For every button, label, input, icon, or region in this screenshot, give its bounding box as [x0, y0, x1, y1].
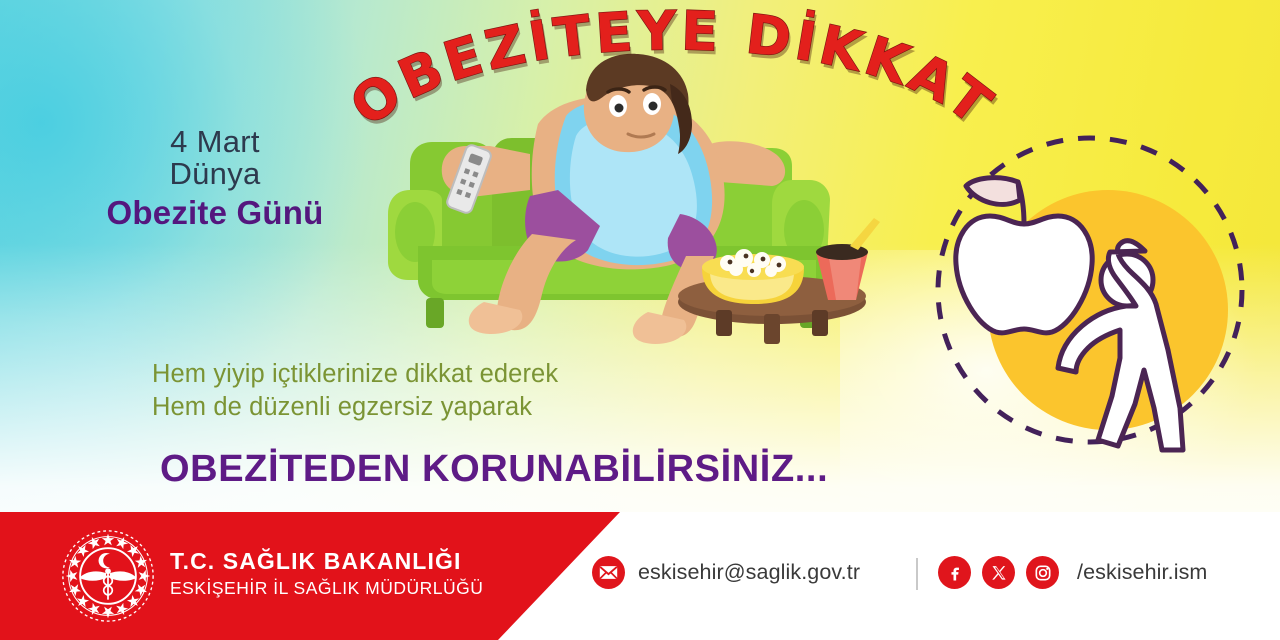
- message-line-1: Hem yiyip içtiklerinize dikkat ederek: [152, 358, 872, 391]
- apple-and-exercising-person-illustration: [930, 120, 1270, 470]
- poster: OBEZİTEYE DİKKAT OBEZİTEYE DİKKAT 4 Mart…: [0, 0, 1280, 640]
- message-line-2: Hem de düzenli egzersiz yaparak: [152, 391, 872, 424]
- tc-saglik-bakanligi-emblem-icon: [60, 528, 156, 624]
- ministry-titles: T.C. SAĞLIK BAKANLIĞI ESKİŞEHİR İL SAĞLI…: [170, 548, 483, 600]
- email-address: eskisehir@saglik.gov.tr: [638, 560, 860, 585]
- email-contact[interactable]: eskisehir@saglik.gov.tr: [592, 556, 860, 589]
- social-handle: /eskisehir.ism: [1077, 560, 1207, 585]
- date-block: 4 Mart Dünya Obezite Günü: [80, 126, 350, 234]
- twitter-x-icon[interactable]: [982, 556, 1015, 589]
- date-line-3: Obezite Günü: [80, 192, 350, 233]
- footer-divider: [916, 558, 918, 590]
- date-line-1: 4 Mart: [80, 126, 350, 158]
- message-headline: OBEZİTEDEN KORUNABİLİRSİNİZ...: [160, 448, 828, 491]
- footer-bar: T.C. SAĞLIK BAKANLIĞI ESKİŞEHİR İL SAĞLI…: [0, 512, 1280, 640]
- ministry-name: T.C. SAĞLIK BAKANLIĞI: [170, 548, 483, 575]
- arched-title-text: OBEZİTEYE DİKKAT: [339, 0, 1006, 139]
- ministry-department: ESKİŞEHİR İL SAĞLIK MÜDÜRLÜĞÜ: [170, 577, 483, 600]
- instagram-icon[interactable]: [1026, 556, 1059, 589]
- date-line-2: Dünya: [80, 158, 350, 190]
- message-block: Hem yiyip içtiklerinize dikkat ederek He…: [152, 358, 872, 424]
- facebook-icon[interactable]: [938, 556, 971, 589]
- envelope-icon: [592, 556, 625, 589]
- social-links: /eskisehir.ism: [938, 556, 1207, 589]
- arched-title: OBEZİTEYE DİKKAT OBEZİTEYE DİKKAT: [372, 8, 972, 128]
